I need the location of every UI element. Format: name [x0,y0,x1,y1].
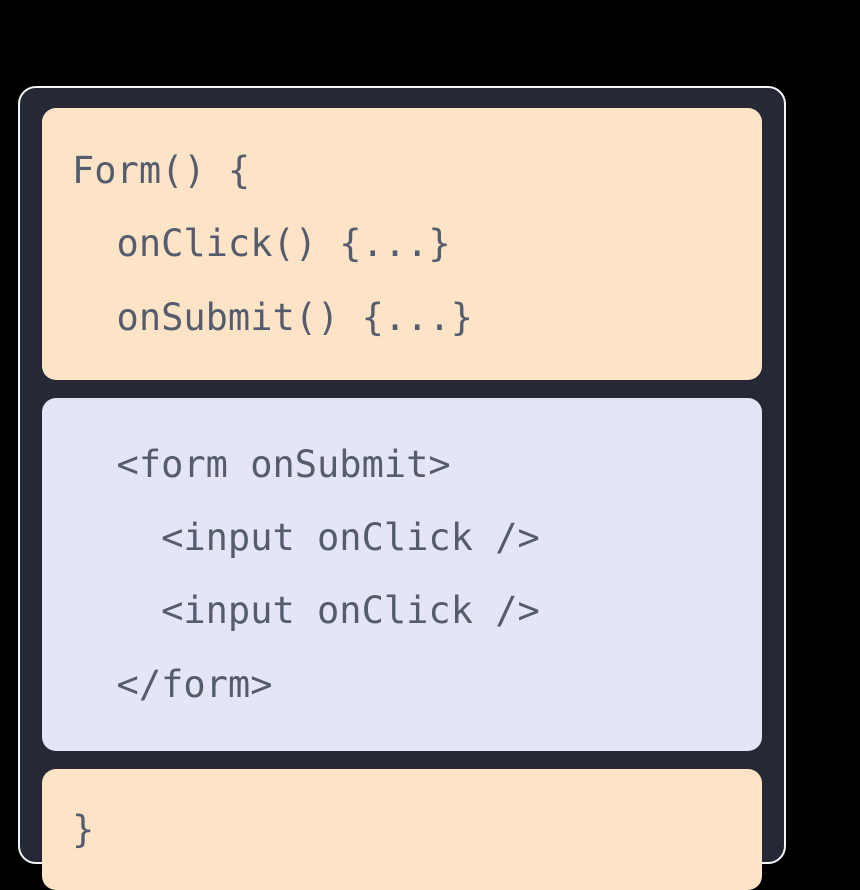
diagram-canvas: Form() { onClick() {...} onSubmit() {...… [0,0,860,874]
code-line: } [72,793,732,866]
code-line: <input onClick /> [72,574,732,647]
code-block-component-scope-close: } [42,769,762,890]
code-line: Form() { [72,134,732,207]
code-block-markup-scope: <form onSubmit> <input onClick /> <input… [42,398,762,751]
code-line: <input onClick /> [72,501,732,574]
code-line: onClick() {...} [72,207,732,280]
code-line: <form onSubmit> [72,428,732,501]
code-block-component-scope-open: Form() { onClick() {...} onSubmit() {...… [42,108,762,380]
code-line: </form> [72,648,732,721]
code-line: onSubmit() {...} [72,281,732,354]
form-component-code-panel: Form() { onClick() {...} onSubmit() {...… [18,86,786,864]
